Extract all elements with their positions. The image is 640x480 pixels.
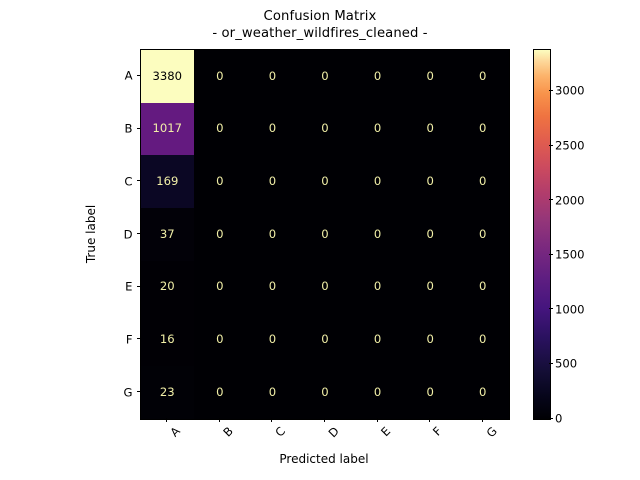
- confusion-matrix-heatmap: 3380000000101700000016900000037000000200…: [140, 49, 510, 420]
- y-axis-title: True label: [84, 49, 98, 418]
- heatmap-cell: 0: [299, 208, 352, 261]
- x-axis-title: Predicted label: [140, 452, 508, 466]
- colorbar-tick-label: 2000: [553, 193, 585, 207]
- colorbar-tick-label: 2500: [553, 139, 585, 153]
- heatmap-cell: 0: [299, 314, 352, 367]
- heatmap-cell: 0: [351, 261, 404, 314]
- heatmap-cell: 0: [456, 155, 509, 208]
- x-axis-tick-label: A: [168, 424, 184, 440]
- heatmap-cell: 0: [351, 314, 404, 367]
- heatmap-cell: 0: [246, 314, 299, 367]
- colorbar-tick-label: 500: [553, 357, 578, 371]
- heatmap-cell: 0: [456, 103, 509, 156]
- y-axis-tick-label: C: [124, 174, 134, 188]
- colorbar-tick-label: 0: [553, 412, 563, 426]
- heatmap-cell: 0: [351, 103, 404, 156]
- heatmap-cell: 0: [404, 261, 457, 314]
- heatmap-cell: 20: [141, 261, 194, 314]
- heatmap-cell: 1017: [141, 103, 194, 156]
- x-axis-tick-mark: [429, 418, 430, 422]
- heatmap-cell: 0: [299, 50, 352, 103]
- x-axis-tick-label: B: [220, 424, 236, 440]
- y-axis-tick-label: E: [125, 280, 134, 294]
- heatmap-cell: 0: [246, 155, 299, 208]
- heatmap-cell: 0: [351, 50, 404, 103]
- y-axis-tick-mark: [137, 286, 141, 287]
- colorbar-ticks: 050010001500200025003000: [549, 49, 609, 418]
- y-axis-tick-label: B: [125, 122, 135, 136]
- heatmap-cell: 0: [194, 314, 247, 367]
- y-axis-ticks: ABCDEFG: [100, 49, 140, 418]
- heatmap-cell: 0: [194, 50, 247, 103]
- heatmap-cell: 3380: [141, 50, 194, 103]
- y-axis-tick-label: A: [125, 69, 135, 83]
- heatmap-cell: 0: [456, 50, 509, 103]
- heatmap-cell: 0: [404, 208, 457, 261]
- chart-title-line-2: - or_weather_wildfires_cleaned -: [0, 25, 640, 42]
- colorbar-tick-label: 1000: [553, 302, 585, 316]
- heatmap-cell: 0: [246, 50, 299, 103]
- heatmap-cell: 0: [299, 366, 352, 419]
- y-axis-tick-mark: [137, 338, 141, 339]
- heatmap-cell: 0: [404, 155, 457, 208]
- x-axis-tick-mark: [271, 418, 272, 422]
- heatmap-cell: 0: [299, 103, 352, 156]
- chart-title: Confusion Matrix - or_weather_wildfires_…: [0, 8, 640, 42]
- y-axis-tick-mark: [137, 75, 141, 76]
- colorbar-gradient: [534, 50, 550, 419]
- heatmap-cell: 0: [456, 261, 509, 314]
- heatmap-cell: 0: [456, 208, 509, 261]
- heatmap-cell: 0: [299, 261, 352, 314]
- x-axis-tick-mark: [324, 418, 325, 422]
- y-axis-tick-mark: [137, 233, 141, 234]
- y-axis-tick-mark: [137, 180, 141, 181]
- heatmap-cell: 0: [404, 314, 457, 367]
- heatmap-cell: 0: [194, 208, 247, 261]
- chart-title-line-1: Confusion Matrix: [0, 8, 640, 25]
- y-axis-tick-label: D: [124, 227, 135, 241]
- y-axis-tick-label: G: [124, 385, 135, 399]
- y-axis-tick-label: F: [126, 332, 135, 346]
- x-axis-tick-mark: [166, 418, 167, 422]
- heatmap-cell: 0: [456, 314, 509, 367]
- heatmap-cell: 0: [194, 366, 247, 419]
- heatmap-cell: 0: [404, 50, 457, 103]
- heatmap-cell: 37: [141, 208, 194, 261]
- heatmap-cell: 0: [404, 366, 457, 419]
- x-axis-tick-label: F: [430, 424, 445, 439]
- colorbar-tick-label: 3000: [553, 84, 585, 98]
- heatmap-cell: 0: [299, 155, 352, 208]
- heatmap-cell: 0: [456, 366, 509, 419]
- x-axis-tick-mark: [377, 418, 378, 422]
- heatmap-cell: 0: [194, 103, 247, 156]
- x-axis-tick-label: G: [483, 424, 499, 440]
- heatmap-cell: 0: [351, 208, 404, 261]
- heatmap-cell: 0: [246, 103, 299, 156]
- heatmap-cell: 0: [194, 155, 247, 208]
- heatmap-cell: 0: [351, 155, 404, 208]
- y-axis-tick-mark: [137, 128, 141, 129]
- colorbar-tick-label: 1500: [553, 248, 585, 262]
- heatmap-cell: 23: [141, 366, 194, 419]
- heatmap-cell-grid: 3380000000101700000016900000037000000200…: [141, 50, 509, 419]
- heatmap-cell: 0: [194, 261, 247, 314]
- heatmap-cell: 0: [246, 208, 299, 261]
- y-axis-title-text: True label: [84, 204, 98, 262]
- y-axis-tick-mark: [137, 391, 141, 392]
- x-axis-tick-mark: [219, 418, 220, 422]
- x-axis-tick-label: C: [273, 424, 289, 440]
- heatmap-cell: 0: [351, 366, 404, 419]
- heatmap-cell: 16: [141, 314, 194, 367]
- x-axis-tick-mark: [482, 418, 483, 422]
- heatmap-cell: 0: [404, 103, 457, 156]
- x-axis-tick-label: D: [326, 424, 342, 440]
- heatmap-cell: 0: [246, 366, 299, 419]
- heatmap-cell: 0: [246, 261, 299, 314]
- heatmap-cell: 169: [141, 155, 194, 208]
- x-axis-tick-label: E: [378, 424, 393, 439]
